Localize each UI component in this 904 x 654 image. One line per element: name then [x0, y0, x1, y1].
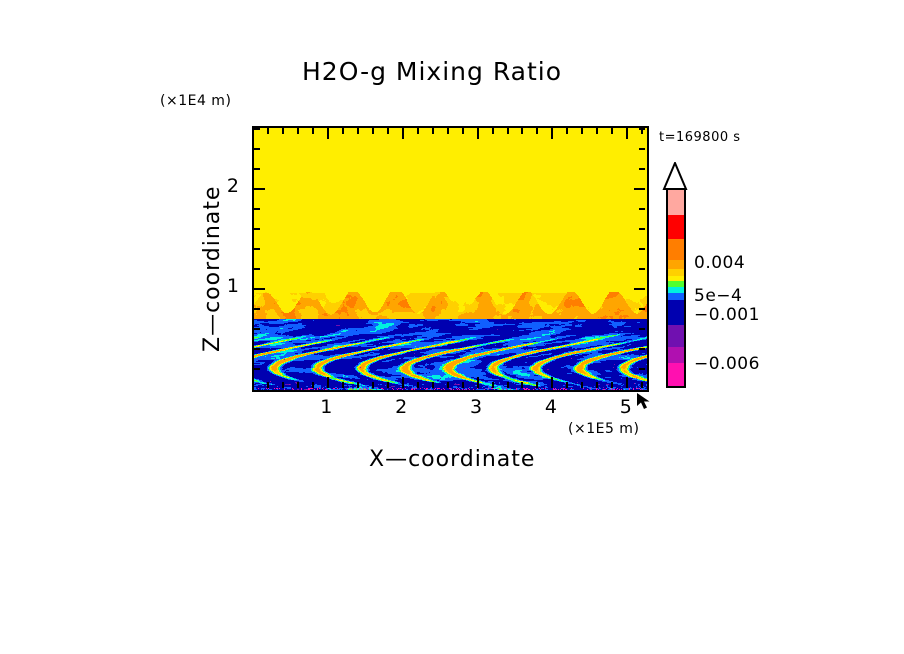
colorbar-band — [668, 260, 684, 269]
axis-tick — [254, 308, 260, 310]
colorbar-band — [668, 347, 684, 363]
colorbar-band — [668, 300, 684, 325]
colorbar-band — [668, 239, 684, 260]
axis-tick — [551, 377, 553, 388]
contour-field — [254, 128, 647, 390]
colorbar-tick-label: 5e−4 — [694, 286, 742, 306]
axis-tick — [254, 228, 260, 230]
axis-tick — [254, 248, 260, 250]
axis-tick — [327, 128, 329, 139]
axis-tick — [282, 128, 284, 134]
colorbar-tick-label: 0.004 — [694, 253, 745, 273]
axis-tick — [254, 148, 260, 150]
axis-tick — [254, 268, 260, 270]
axis-tick — [402, 377, 404, 388]
axis-tick — [634, 288, 645, 290]
axis-tick — [639, 248, 645, 250]
axis-tick — [521, 128, 523, 134]
axis-tick — [417, 382, 419, 388]
axis-tick — [342, 128, 344, 134]
axis-tick — [254, 128, 260, 130]
axis-tick — [282, 382, 284, 388]
axis-tick — [254, 208, 260, 210]
axis-tick — [639, 128, 645, 130]
axis-tick — [521, 382, 523, 388]
axis-tick — [357, 382, 359, 388]
colorbar-band — [668, 190, 684, 215]
axis-tick — [254, 328, 260, 330]
axis-tick — [297, 382, 299, 388]
axis-tick — [254, 188, 265, 190]
axis-tick — [492, 128, 494, 134]
axis-tick — [639, 148, 645, 150]
axis-tick — [447, 382, 449, 388]
mouse-arrow-cursor-icon — [636, 392, 652, 410]
axis-tick — [342, 382, 344, 388]
y-axis-title: Z—coordinate — [200, 186, 225, 352]
axis-tick — [447, 128, 449, 134]
axis-tick — [387, 382, 389, 388]
axis-tick — [634, 188, 645, 190]
axis-tick — [477, 377, 479, 388]
axis-tick — [372, 128, 374, 134]
colorbar-band — [668, 363, 684, 386]
colorbar[interactable]: 0.0045e−4−0.001−0.006 — [662, 162, 692, 388]
axis-tick — [254, 168, 260, 170]
axis-tick — [507, 128, 509, 134]
colorbar-band — [668, 269, 684, 276]
axis-tick — [254, 368, 260, 370]
axis-tick — [312, 128, 314, 134]
colorbar-bands — [666, 188, 686, 388]
axis-tick — [432, 128, 434, 134]
colorbar-band — [668, 325, 684, 347]
axis-tick — [387, 128, 389, 134]
colorbar-tick-label: −0.001 — [694, 305, 760, 325]
x-axis-tick-label: 4 — [531, 396, 571, 418]
x-axis-tick-label: 2 — [382, 396, 422, 418]
axis-tick — [566, 128, 568, 134]
axis-tick — [254, 348, 260, 350]
axis-tick — [507, 382, 509, 388]
axis-tick — [267, 128, 269, 134]
y-axis-unit-label: (×1E4 m) — [160, 93, 231, 109]
axis-tick — [611, 382, 613, 388]
axis-tick — [639, 348, 645, 350]
axis-tick — [477, 128, 479, 139]
axis-tick — [551, 128, 553, 139]
axis-tick — [254, 288, 265, 290]
axis-tick — [566, 382, 568, 388]
colorbar-tick-label: −0.006 — [694, 354, 760, 374]
axis-tick — [596, 382, 598, 388]
axis-tick — [417, 128, 419, 134]
axis-tick — [297, 128, 299, 134]
x-axis-title: X—coordinate — [369, 447, 535, 472]
contour-plot-area[interactable] — [252, 126, 649, 392]
axis-tick — [596, 128, 598, 134]
page-title: H2O-g Mixing Ratio — [302, 57, 562, 86]
axis-tick — [267, 382, 269, 388]
axis-tick — [581, 382, 583, 388]
colorbar-band — [668, 293, 684, 301]
axis-tick — [639, 308, 645, 310]
axis-tick — [462, 128, 464, 134]
axis-tick — [372, 382, 374, 388]
axis-tick — [357, 128, 359, 134]
axis-tick — [432, 382, 434, 388]
axis-tick — [492, 382, 494, 388]
axis-tick — [462, 382, 464, 388]
x-axis-tick-label: 3 — [457, 396, 497, 418]
axis-tick — [639, 208, 645, 210]
axis-tick — [626, 128, 628, 139]
axis-tick — [639, 368, 645, 370]
axis-tick — [327, 377, 329, 388]
colorbar-arrow-tip — [662, 162, 688, 190]
timestamp-annotation: t=169800 s — [659, 130, 741, 145]
x-axis-tick-label: 1 — [307, 396, 347, 418]
axis-tick — [611, 128, 613, 134]
axis-tick — [626, 377, 628, 388]
axis-tick — [402, 128, 404, 139]
axis-tick — [639, 228, 645, 230]
axis-tick — [639, 268, 645, 270]
axis-tick — [536, 128, 538, 134]
colorbar-band — [668, 215, 684, 240]
axis-tick — [312, 382, 314, 388]
x-axis-unit-label: (×1E5 m) — [568, 421, 639, 437]
axis-tick — [536, 382, 538, 388]
axis-tick — [639, 168, 645, 170]
axis-tick — [639, 328, 645, 330]
axis-tick — [581, 128, 583, 134]
axis-tick — [641, 382, 643, 388]
